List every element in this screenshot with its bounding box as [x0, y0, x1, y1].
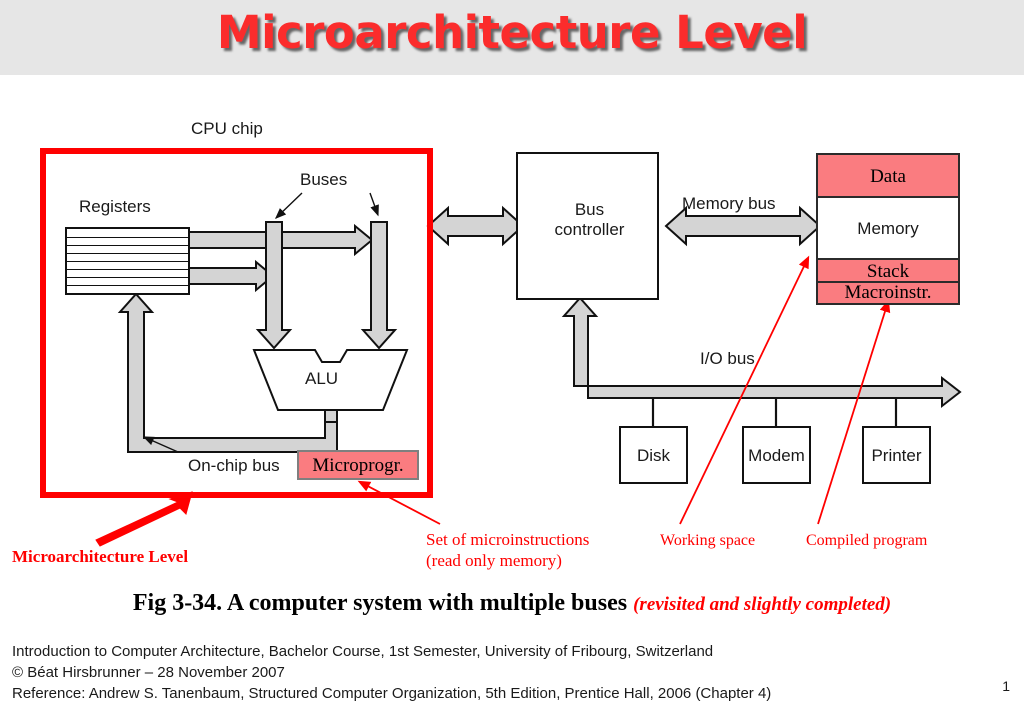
microprogram-block: Microprogr. [297, 450, 419, 480]
annotation-arrow-microarchitecture [96, 492, 192, 546]
buses-label: Buses [300, 170, 347, 190]
figure-caption-main: Fig 3-34. A computer system with multipl… [133, 590, 627, 616]
bus-controller-label-line1: Bus [518, 200, 661, 220]
annotation-microarchitecture-level: Microarchitecture Level [12, 546, 188, 567]
device-printer: Printer [862, 426, 931, 484]
registers-block [65, 227, 190, 295]
page-number: 1 [1002, 678, 1010, 694]
bus-controller-label: Bus controller [518, 200, 661, 240]
registers-label: Registers [79, 197, 151, 217]
memory-band-stack: Stack [818, 260, 958, 283]
bus-controller-label-line2: controller [518, 220, 661, 240]
footer-line-author: © Béat Hirsbrunner – 28 November 2007 [12, 662, 771, 683]
annotation-set-of-microinstructions: Set of microinstructions (read only memo… [426, 529, 589, 571]
device-disk: Disk [619, 426, 688, 484]
bus-controller-block: Bus controller [516, 152, 659, 300]
annotation-working-space: Working space [660, 530, 755, 551]
device-stems [653, 398, 896, 426]
cpu-chip-label: CPU chip [191, 119, 263, 139]
on-chip-bus-label: On-chip bus [188, 456, 280, 476]
annotation-arrow-compiled-program [818, 302, 888, 524]
memory-band-main: Memory [818, 198, 958, 260]
memory-block: Data Memory Stack Macroinstr. [816, 153, 960, 305]
alu-label: ALU [305, 369, 338, 389]
device-modem: Modem [742, 426, 811, 484]
memory-band-macroinstr: Macroinstr. [818, 283, 958, 303]
io-bus-label: I/O bus [700, 349, 755, 369]
annotation-compiled-program: Compiled program [806, 530, 927, 551]
figure-caption: Fig 3-34. A computer system with multipl… [0, 590, 1024, 617]
slide-footer: Introduction to Computer Architecture, B… [12, 641, 771, 704]
slide-root: Microarchitecture Level [0, 0, 1024, 708]
figure-caption-extra: (revisited and slightly completed) [633, 594, 891, 615]
footer-line-reference: Reference: Andrew S. Tanenbaum, Structur… [12, 683, 771, 704]
footer-line-course: Introduction to Computer Architecture, B… [12, 641, 771, 662]
bus-arrow-cpu-to-controller [428, 208, 523, 244]
memory-band-data: Data [818, 155, 958, 198]
memory-bus-label: Memory bus [682, 194, 776, 214]
